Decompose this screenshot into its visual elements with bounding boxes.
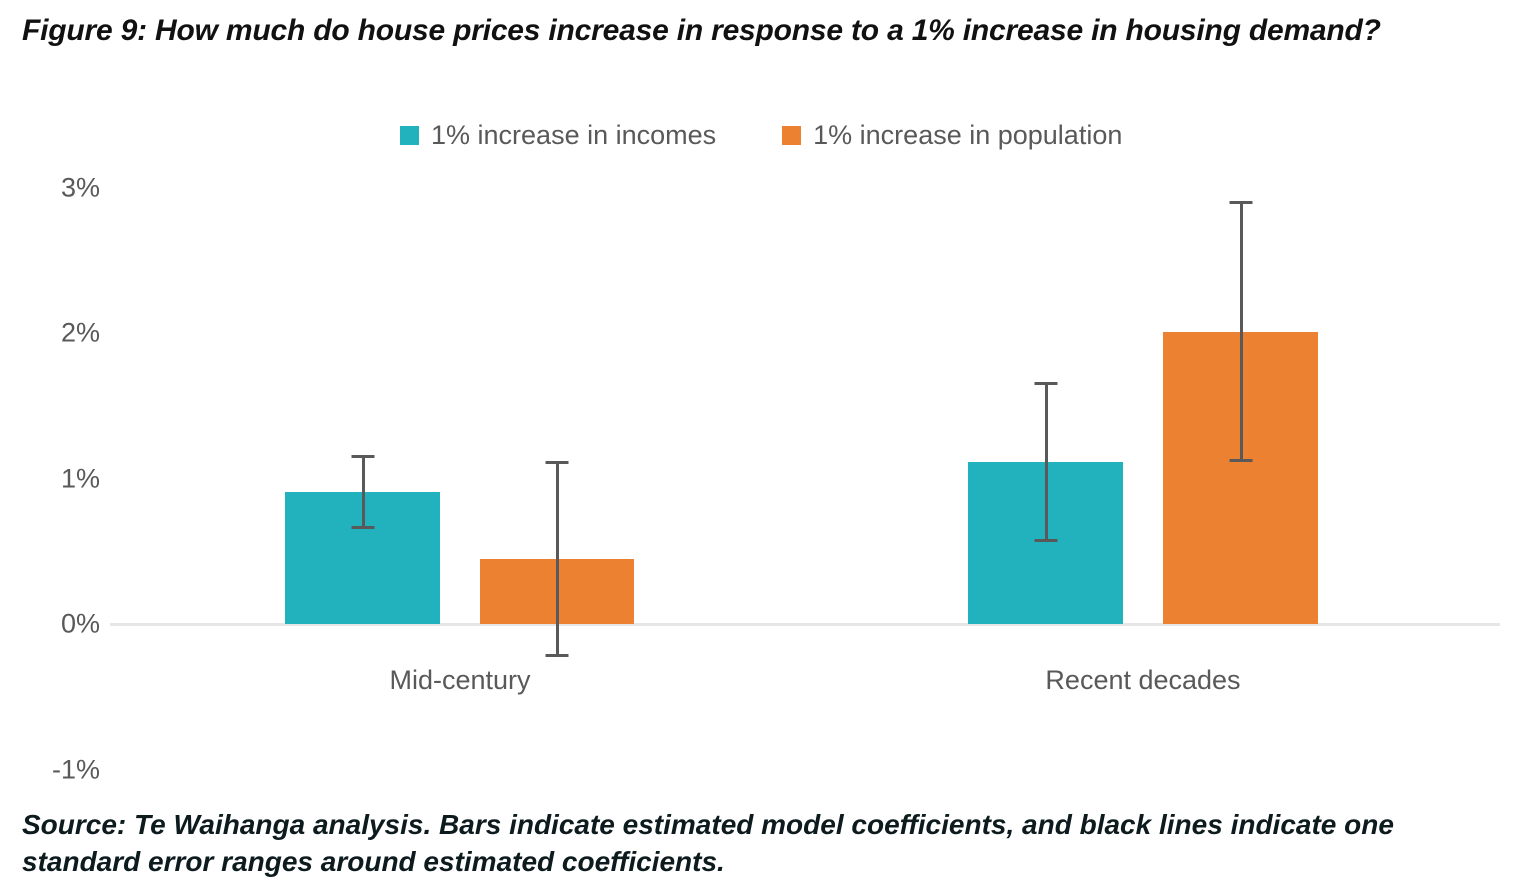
x-axis-tick-recent-decades: Recent decades [1045, 665, 1240, 696]
error-bar-line [1240, 201, 1243, 461]
error-bar-cap-top [546, 461, 569, 464]
y-axis-tick-minus1: -1% [10, 754, 100, 785]
error-bar-line [362, 455, 365, 528]
error-bar-cap-bottom [351, 526, 374, 529]
y-axis-tick-3: 3% [10, 172, 100, 203]
y-axis-tick-0: 0% [10, 609, 100, 640]
error-bar-cap-top [1229, 201, 1252, 204]
y-axis-tick-2: 2% [10, 318, 100, 349]
error-bar-cap-bottom [546, 654, 569, 657]
error-bar-line [556, 461, 559, 656]
x-axis-tick-mid-century: Mid-century [389, 665, 530, 696]
error-bar-line [1045, 382, 1048, 541]
bar-chart-plot-area: 3% 2% 1% 0% -1% Mid-century Recent decad… [0, 0, 1514, 896]
error-bar-cap-bottom [1229, 459, 1252, 462]
error-bar-cap-bottom [1034, 539, 1057, 542]
error-bar-cap-top [351, 455, 374, 458]
y-axis-tick-1: 1% [10, 463, 100, 494]
error-bar-cap-top [1034, 382, 1057, 385]
source-note: Source: Te Waihanga analysis. Bars indic… [22, 806, 1502, 880]
